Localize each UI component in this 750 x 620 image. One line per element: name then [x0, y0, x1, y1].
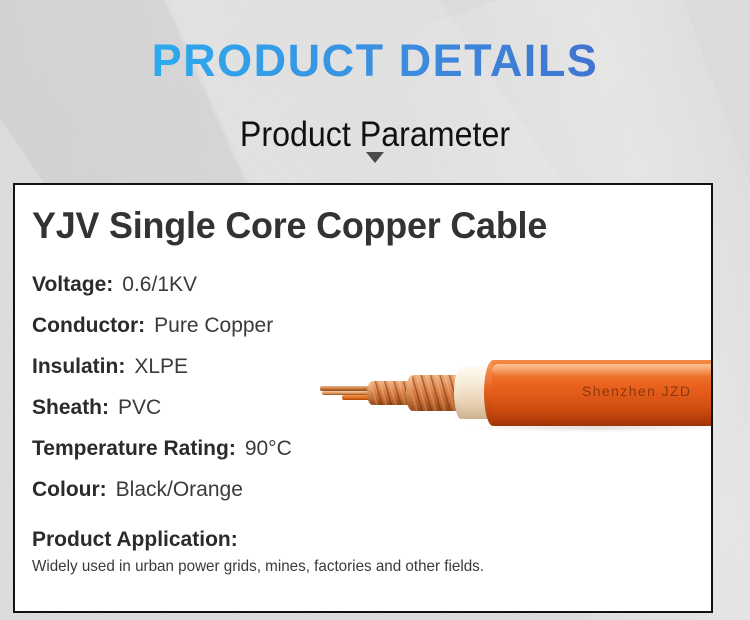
- spec-row-colour: Colour : Black/Orange: [32, 478, 432, 519]
- cable-drop-shadow: [470, 423, 713, 432]
- spec-value: 0.6/1KV: [122, 273, 197, 297]
- spec-row-temperature-rating: Temperature Rating : 90°C: [32, 437, 432, 478]
- spec-label: Temperature Rating: [32, 437, 229, 461]
- spec-label: Colour: [32, 478, 100, 502]
- cable-printed-branding: Shenzhen JZD: [582, 383, 691, 399]
- spec-label: Insulatin: [32, 355, 118, 379]
- spec-colon: :: [231, 528, 246, 551]
- spec-label: Sheath: [32, 396, 102, 420]
- specification-list: Voltage : 0.6/1KV Conductor : Pure Coppe…: [32, 273, 432, 519]
- triangle-down-icon: [366, 152, 384, 163]
- spec-colon: :: [138, 314, 154, 338]
- spec-row-conductor: Conductor : Pure Copper: [32, 314, 432, 355]
- spec-row-insulation: Insulatin : XLPE: [32, 355, 432, 396]
- spec-value: Widely used in urban power grids, mines,…: [32, 554, 484, 579]
- product-details-page: PRODUCT DETAILS Product Parameter YJV Si…: [0, 0, 750, 620]
- page-title: PRODUCT DETAILS: [0, 35, 750, 87]
- product-name: YJV Single Core Copper Cable: [32, 205, 547, 247]
- spec-label: Voltage: [32, 273, 106, 297]
- section-subtitle: Product Parameter: [30, 115, 720, 155]
- spec-colon: :: [100, 478, 116, 502]
- spec-row-sheath: Sheath : PVC: [32, 396, 432, 437]
- spec-label: Conductor: [32, 314, 138, 338]
- spec-colon: :: [102, 396, 118, 420]
- spec-colon: :: [118, 355, 134, 379]
- spec-value: XLPE: [134, 355, 188, 379]
- spec-value: 90°C: [245, 437, 292, 461]
- spec-label: Product Application: [32, 528, 231, 551]
- spec-value: Pure Copper: [154, 314, 273, 338]
- pvc-sheath-highlight: [492, 364, 713, 377]
- spec-row-product-application: Product Application:Widely used in urban…: [32, 527, 692, 579]
- spec-row-voltage: Voltage : 0.6/1KV: [32, 273, 432, 314]
- spec-value: Black/Orange: [116, 478, 243, 502]
- spec-colon: :: [229, 437, 245, 461]
- spec-value: PVC: [118, 396, 161, 420]
- spec-colon: :: [106, 273, 122, 297]
- product-parameter-panel: YJV Single Core Copper Cable Shenzhen JZ…: [13, 183, 713, 613]
